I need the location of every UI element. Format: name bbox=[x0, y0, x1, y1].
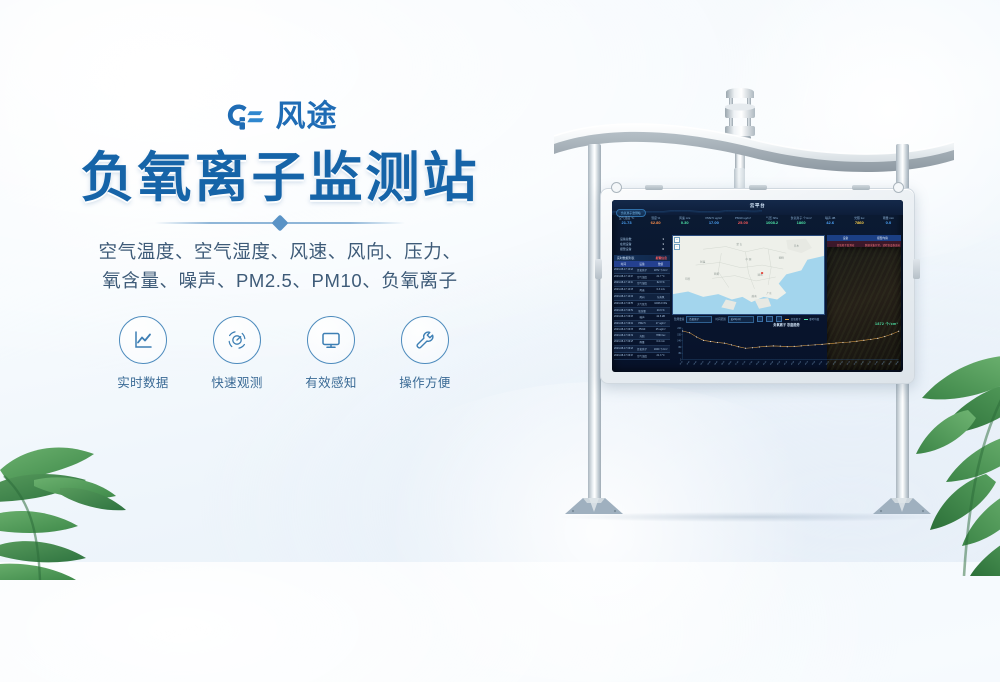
mount-eyelet-left bbox=[611, 182, 622, 193]
stat-label: 在线设备 bbox=[620, 242, 632, 246]
subtitle: 空气温度、空气湿度、风速、风向、压力、 氧含量、噪声、PM2.5、PM10、负氧… bbox=[0, 238, 560, 295]
kpi-card: 风速 m/s 0.30 bbox=[670, 215, 699, 233]
tropical-leaf-left-icon bbox=[0, 350, 200, 580]
table-cell: 21.3 ℃ bbox=[651, 353, 670, 359]
svg-text:日本: 日本 bbox=[794, 244, 800, 248]
svg-text:09:40: 09:40 bbox=[693, 361, 697, 366]
table-cell: 空气温度 bbox=[633, 274, 652, 280]
table-cell: 噪声 bbox=[633, 314, 652, 320]
stat-label: 设备总数 bbox=[620, 237, 632, 241]
table-cell: 2023-08-17 10:10 bbox=[614, 281, 633, 287]
table-row[interactable]: 2023-08-17 09:25雨量0.0 mm bbox=[614, 340, 670, 347]
svg-text:480: 480 bbox=[678, 353, 682, 355]
kpi-card: PM2.5 ug/m³ 17.00 bbox=[699, 215, 728, 233]
table-cell: 2023-08-17 10:00 bbox=[614, 294, 633, 300]
table-cell: 2023-08-17 09:35 bbox=[614, 327, 633, 332]
feature-label: 快速观测 bbox=[204, 372, 270, 391]
side-bracket-right bbox=[913, 259, 920, 279]
copy-block: 风途 负氧离子监测站 空气温度、空气湿度、风速、风向、压力、 氧含量、噪声、PM… bbox=[0, 96, 560, 391]
table-row[interactable]: 2023-08-17 09:55大气压力1008.2 hPa bbox=[614, 301, 670, 308]
table-cell: 42.6 dB bbox=[651, 314, 670, 320]
svg-text:960: 960 bbox=[678, 347, 682, 349]
page-title: 负氧离子监测站 bbox=[0, 150, 560, 207]
svg-text:07:40: 07:40 bbox=[735, 361, 739, 366]
table-cell: PM10 bbox=[633, 327, 652, 332]
kpi-value: 62.80 bbox=[641, 220, 670, 226]
device-stats: 设备总数 1 在线设备 1 报警设备 0 bbox=[614, 234, 670, 254]
map-zoom-controls[interactable]: + − bbox=[674, 237, 680, 250]
kpi-card: 气压 hPa 1008.2 bbox=[757, 215, 786, 233]
kpi-card: 雨量 mm 0.0 bbox=[874, 215, 903, 233]
table-cell: 1872 个/cm³ bbox=[651, 267, 670, 273]
svg-text:广东: 广东 bbox=[767, 291, 773, 295]
legend-label: 参考均值 bbox=[809, 317, 819, 321]
table-cell: 2023-08-17 10:05 bbox=[614, 287, 633, 293]
svg-text:2400: 2400 bbox=[677, 328, 681, 330]
svg-text:05:40: 05:40 bbox=[777, 361, 781, 366]
subtitle-line-1: 空气温度、空气湿度、风速、风向、压力、 bbox=[0, 238, 560, 267]
kpi-card: 噪声 dB 42.6 bbox=[816, 215, 845, 233]
table-cell: 2023-08-17 09:20 bbox=[614, 346, 633, 352]
svg-text:05:20: 05:20 bbox=[784, 361, 788, 366]
table-cell: 2023-08-17 09:55 bbox=[614, 301, 633, 307]
table-cell: 17 ug/m³ bbox=[651, 321, 670, 326]
kpi-strip: 空气温度 ℃ 21.73 湿度 % 62.80 风速 m/s 0.30 PM bbox=[612, 215, 903, 233]
svg-text:08:20: 08:20 bbox=[721, 361, 725, 366]
svg-text:09:20: 09:20 bbox=[700, 361, 704, 366]
feature-icon-ring bbox=[213, 316, 261, 364]
range-label: 时间范围 bbox=[715, 317, 725, 321]
table-cell: 雨量 bbox=[633, 340, 652, 346]
table-cell: 空气温度 bbox=[633, 353, 652, 359]
side-bracket-left bbox=[595, 259, 602, 279]
dashboard-header: 云平台 负氧离子监测站 bbox=[612, 200, 903, 215]
svg-text:09:00: 09:00 bbox=[707, 361, 711, 366]
feature-icon-ring bbox=[307, 316, 355, 364]
poster-canvas: 风途 负氧离子监测站 空气温度、空气湿度、风速、风向、压力、 氧含量、噪声、PM… bbox=[0, 0, 1000, 562]
table-cell: 1840 个/cm³ bbox=[651, 346, 670, 352]
table-cell: 2023-08-17 09:40 bbox=[614, 321, 633, 326]
svg-text:06:20: 06:20 bbox=[763, 361, 767, 366]
kpi-card: 湿度 % 62.80 bbox=[641, 215, 670, 233]
feature-label: 有效感知 bbox=[298, 372, 364, 391]
table-row[interactable]: 2023-08-17 10:20负氧离子1872 个/cm³ bbox=[614, 267, 670, 274]
title-divider bbox=[155, 217, 405, 229]
wrench-icon bbox=[413, 328, 437, 352]
table-cell: 2023-08-17 09:30 bbox=[614, 333, 633, 339]
table-row[interactable]: 2023-08-17 09:50氧含量20.9 % bbox=[614, 308, 670, 315]
stat-label: 报警设备 bbox=[620, 247, 632, 251]
kpi-value: 7860 bbox=[845, 220, 874, 226]
svg-text:08:00: 08:00 bbox=[728, 361, 732, 366]
mount-clip bbox=[749, 185, 767, 190]
svg-text:新疆: 新疆 bbox=[700, 260, 706, 264]
table-cell: 光照 bbox=[633, 333, 652, 339]
svg-text:04:00: 04:00 bbox=[812, 361, 816, 366]
table-cell: 东南风 bbox=[651, 294, 670, 300]
mount-clip bbox=[645, 185, 663, 190]
brand-name: 风途 bbox=[276, 102, 338, 132]
table-row[interactable]: 2023-08-17 09:45噪声42.6 dB bbox=[614, 314, 670, 321]
table-row[interactable]: 2023-08-17 09:15空气温度21.3 ℃ bbox=[614, 353, 670, 360]
table-cell: 0.0 mm bbox=[651, 340, 670, 346]
kpi-card: 负氧离子 个/cm³ 1860 bbox=[787, 215, 816, 233]
parameter-value[interactable]: 负氧离子 bbox=[686, 316, 712, 323]
table-cell: 20.9 % bbox=[651, 308, 670, 314]
svg-text:蒙 古: 蒙 古 bbox=[736, 242, 742, 246]
table-cell: 2023-08-17 09:45 bbox=[614, 314, 633, 320]
kpi-value: 1008.2 bbox=[757, 220, 786, 226]
kpi-value: 21.73 bbox=[612, 220, 641, 226]
legend-item-secondary: 参考均值 bbox=[804, 317, 820, 321]
svg-text:07:20: 07:20 bbox=[742, 361, 746, 366]
svg-text:1440: 1440 bbox=[677, 340, 681, 342]
wind-g-logo-icon bbox=[223, 101, 267, 134]
table-cell: 2023-08-17 09:15 bbox=[614, 353, 633, 359]
china-east-asia-map: 蒙 古中 国 新疆西藏 湖南朝鲜 印度越南 日本广东 bbox=[673, 236, 824, 314]
map-zoom-out-button[interactable]: − bbox=[674, 244, 680, 250]
refresh-icon[interactable] bbox=[757, 316, 764, 323]
svg-text:中 国: 中 国 bbox=[745, 257, 751, 261]
svg-text:10:20: 10:20 bbox=[679, 361, 683, 366]
range-value[interactable]: 近24小时 bbox=[728, 316, 754, 323]
svg-text:越南: 越南 bbox=[752, 294, 758, 298]
table-cell: 1008.2 hPa bbox=[651, 301, 670, 307]
table-cell: 负氧离子 bbox=[633, 346, 652, 352]
table-cell: 2023-08-17 10:15 bbox=[614, 274, 633, 280]
foliage-right bbox=[818, 336, 1000, 576]
table-cell: 62.8 % bbox=[651, 281, 670, 287]
table-row[interactable]: 2023-08-17 09:20负氧离子1840 个/cm³ bbox=[614, 346, 670, 353]
kpi-value: 0.0 bbox=[874, 220, 903, 226]
table-cell: 风速 bbox=[633, 287, 652, 293]
table-cell: 7860 lux bbox=[651, 333, 670, 339]
kpi-value: 25.00 bbox=[728, 220, 757, 226]
table-cell: 2023-08-17 09:25 bbox=[614, 340, 633, 346]
table-cell: 2023-08-17 09:50 bbox=[614, 308, 633, 314]
subtitle-line-2: 氧含量、噪声、PM2.5、PM10、负氧离子 bbox=[0, 267, 560, 296]
svg-text:印度: 印度 bbox=[685, 277, 691, 281]
left-panel: 设备总数 1 在线设备 1 报警设备 0 bbox=[614, 234, 670, 370]
stat-row: 报警设备 0 bbox=[620, 246, 670, 251]
map-zoom-in-button[interactable]: + bbox=[674, 237, 680, 243]
table-cell: PM2.5 bbox=[633, 321, 652, 326]
feature-icon-ring bbox=[401, 316, 449, 364]
range-select[interactable]: 时间范围 近24小时 bbox=[715, 316, 753, 323]
table-row[interactable]: 2023-08-17 09:30光照7860 lux bbox=[614, 333, 670, 340]
data-table-body[interactable]: 2023-08-17 10:20负氧离子1872 个/cm³2023-08-17… bbox=[614, 267, 670, 360]
alarm-tag[interactable]: 报警信息 bbox=[655, 256, 667, 260]
radar-scan-icon bbox=[225, 328, 249, 352]
kpi-card: 空气温度 ℃ 21.73 bbox=[612, 215, 641, 233]
foliage-left bbox=[0, 350, 200, 580]
stat-value: 1 bbox=[662, 237, 664, 241]
legend-item-primary: 负氧离子 bbox=[785, 317, 801, 321]
table-cell: 大气压力 bbox=[633, 301, 652, 307]
brand-logo: 风途 bbox=[0, 96, 560, 138]
table-cell: 负氧离子 bbox=[633, 267, 652, 273]
table-row[interactable]: 2023-08-17 10:15空气温度21.7 ℃ bbox=[614, 274, 670, 281]
svg-text:06:40: 06:40 bbox=[756, 361, 760, 366]
table-row[interactable]: 2023-08-17 10:05风速0.3 m/s bbox=[614, 287, 670, 294]
line-chart-icon bbox=[131, 328, 155, 352]
legend-label: 负氧离子 bbox=[791, 317, 801, 321]
tropical-leaf-right-icon bbox=[818, 336, 1000, 576]
data-table-heading: 实时数据列表 bbox=[617, 256, 634, 260]
parameter-select[interactable]: 监测要素 负氧离子 bbox=[674, 316, 712, 323]
svg-text:朝鲜: 朝鲜 bbox=[779, 256, 785, 260]
svg-text:04:40: 04:40 bbox=[798, 361, 802, 366]
kpi-value: 0.30 bbox=[670, 220, 699, 226]
svg-text:西藏: 西藏 bbox=[714, 272, 720, 276]
svg-text:05:00: 05:00 bbox=[791, 361, 795, 366]
feature-label: 操作方便 bbox=[392, 372, 458, 391]
table-row[interactable]: 2023-08-17 10:00风向东南风 bbox=[614, 294, 670, 301]
svg-text:08:40: 08:40 bbox=[714, 361, 718, 366]
table-cell: 21.7 ℃ bbox=[651, 274, 670, 280]
mount-eyelet-right bbox=[893, 182, 904, 193]
kpi-value: 17.00 bbox=[699, 220, 728, 226]
mount-clip bbox=[852, 185, 870, 190]
svg-text:07:00: 07:00 bbox=[749, 361, 753, 366]
svg-text:06:00: 06:00 bbox=[770, 361, 774, 366]
svg-text:04:20: 04:20 bbox=[805, 361, 809, 366]
svg-text:1920: 1920 bbox=[677, 334, 681, 336]
feature-item-easy-operation[interactable]: 操作方便 bbox=[392, 316, 458, 391]
table-cell: 25 ug/m³ bbox=[651, 327, 670, 332]
table-cell: 氧含量 bbox=[633, 308, 652, 314]
table-cell: 2023-08-17 10:20 bbox=[614, 267, 633, 273]
kpi-value: 1860 bbox=[787, 220, 816, 226]
feature-item-effective-sensing[interactable]: 有效感知 bbox=[298, 316, 364, 391]
kpi-value: 42.6 bbox=[816, 220, 845, 226]
svg-text:10:00: 10:00 bbox=[686, 361, 690, 366]
stat-value: 0 bbox=[662, 247, 664, 251]
feature-item-fast-observation[interactable]: 快速观测 bbox=[204, 316, 270, 391]
kpi-card: PM10 ug/m³ 25.00 bbox=[728, 215, 757, 233]
table-row[interactable]: 2023-08-17 10:10空气湿度62.8 % bbox=[614, 281, 670, 288]
kpi-card: 光照 lux 7860 bbox=[845, 215, 874, 233]
parameter-label: 监测要素 bbox=[674, 317, 684, 321]
table-cell: 空气湿度 bbox=[633, 281, 652, 287]
stat-value: 1 bbox=[662, 242, 664, 246]
map-panel[interactable]: 蒙 古中 国 新疆西藏 湖南朝鲜 印度越南 日本广东 + − bbox=[672, 235, 825, 315]
table-cell: 风向 bbox=[633, 294, 652, 300]
table-view-icon[interactable] bbox=[766, 316, 773, 323]
table-cell: 0.3 m/s bbox=[651, 287, 670, 293]
monitor-icon bbox=[319, 328, 343, 352]
